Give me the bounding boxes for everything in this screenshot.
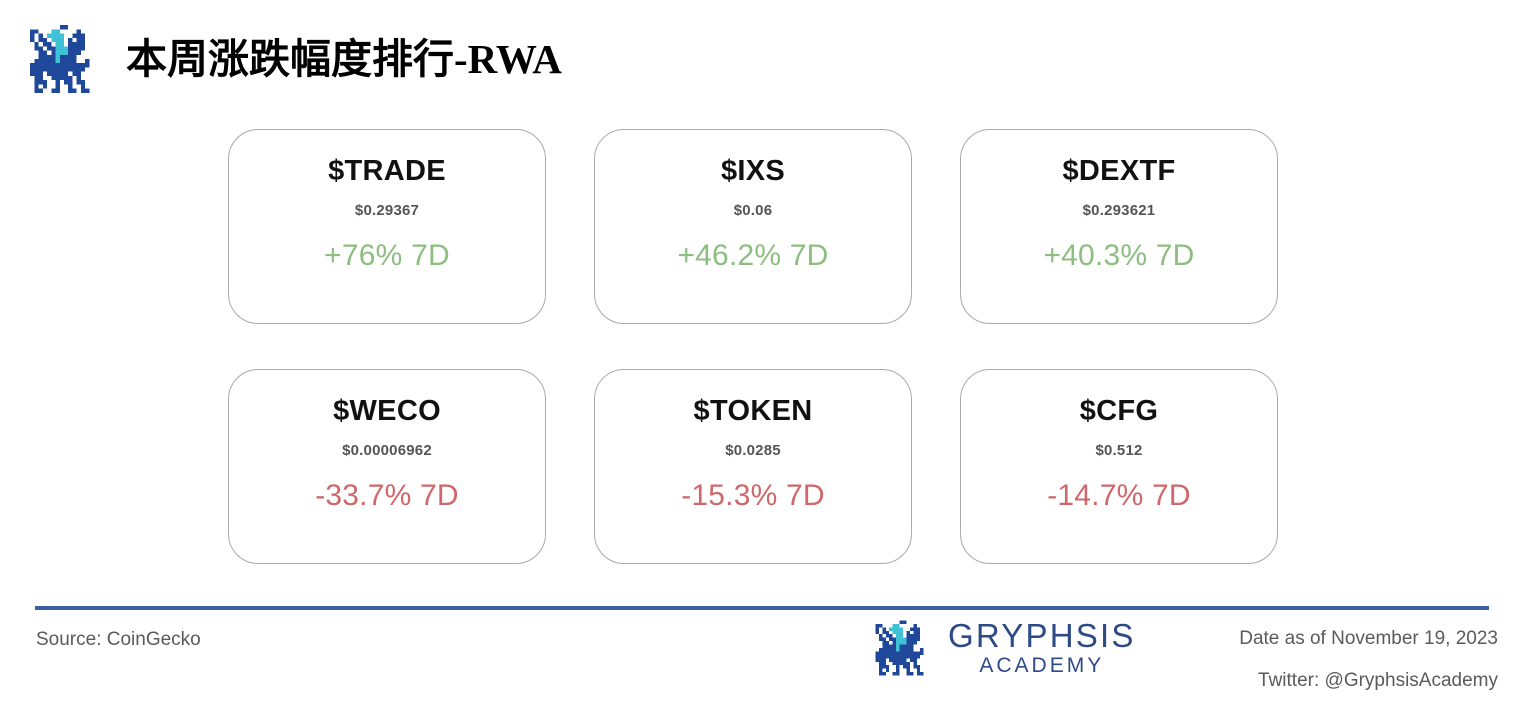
token-price: $0.293621	[1083, 202, 1156, 219]
page-title: 本周涨跌幅度排行-RWA	[126, 39, 562, 80]
token-change-badge: -15.3% 7D	[681, 479, 825, 513]
token-symbol: $TRADE	[328, 156, 446, 188]
token-symbol: $TOKEN	[694, 396, 813, 428]
gryphsis-griffin-icon	[872, 617, 934, 679]
brand-lockup: GRYPHSIS ACADEMY	[872, 617, 1136, 679]
token-card[interactable]: $TOKEN $0.0285 -15.3% 7D	[594, 369, 912, 564]
token-card[interactable]: $TRADE $0.29367 +76% 7D	[228, 129, 546, 324]
token-card[interactable]: $CFG $0.512 -14.7% 7D	[960, 369, 1278, 564]
brand-name: GRYPHSIS	[948, 619, 1136, 654]
token-card[interactable]: $DEXTF $0.293621 +40.3% 7D	[960, 129, 1278, 324]
token-price: $0.29367	[355, 202, 419, 219]
brand-subtitle: ACADEMY	[979, 654, 1104, 677]
token-symbol: $IXS	[721, 156, 785, 188]
token-card[interactable]: $WECO $0.00006962 -33.7% 7D	[228, 369, 546, 564]
token-change-badge: +76% 7D	[324, 239, 450, 273]
token-card[interactable]: $IXS $0.06 +46.2% 7D	[594, 129, 912, 324]
token-change-badge: -33.7% 7D	[315, 479, 459, 513]
token-card-grid: $TRADE $0.29367 +76% 7D $IXS $0.06 +46.2…	[228, 129, 1282, 564]
gryphsis-griffin-icon	[26, 21, 102, 97]
token-change-badge: +46.2% 7D	[677, 239, 828, 273]
token-price: $0.0285	[725, 442, 781, 459]
token-change-badge: -14.7% 7D	[1047, 479, 1191, 513]
token-price: $0.06	[734, 202, 773, 219]
page-header: 本周涨跌幅度排行-RWA	[0, 0, 1524, 118]
footer-divider	[35, 606, 1489, 610]
token-symbol: $WECO	[333, 396, 441, 428]
token-symbol: $CFG	[1080, 396, 1159, 428]
token-price: $0.512	[1095, 442, 1142, 459]
twitter-handle: Twitter: @GryphsisAcademy	[1239, 670, 1498, 692]
token-price: $0.00006962	[342, 442, 432, 459]
date-label: Date as of November 19, 2023	[1239, 628, 1498, 650]
token-symbol: $DEXTF	[1063, 156, 1176, 188]
source-label: Source: CoinGecko	[36, 629, 201, 651]
token-change-badge: +40.3% 7D	[1043, 239, 1194, 273]
footer-meta: Date as of November 19, 2023 Twitter: @G…	[1239, 628, 1498, 692]
brand-wordmark: GRYPHSIS ACADEMY	[948, 619, 1136, 678]
